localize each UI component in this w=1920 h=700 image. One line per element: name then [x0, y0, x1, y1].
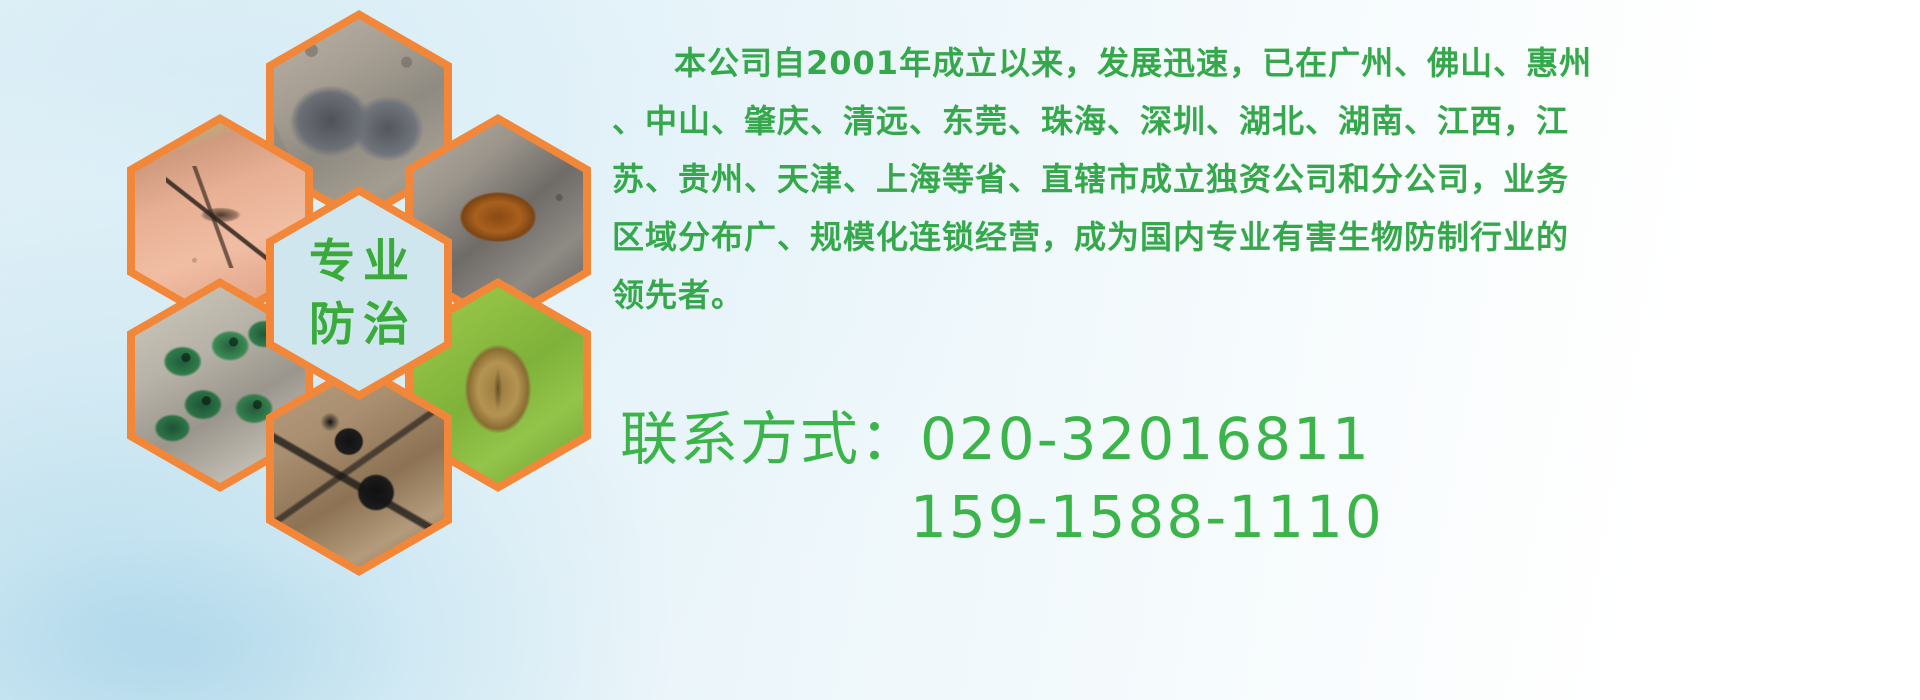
description-line-2: 、中山、肇庆、清远、东莞、珠海、深圳、湖北、湖南、江西，江 — [612, 92, 1902, 150]
badge-label-line1: 专业 — [301, 233, 417, 291]
hex-inner-badge: 专业 防治 — [274, 195, 444, 391]
hexagon-photo-cluster: 专业 防治 — [95, 10, 595, 570]
ant-photo — [274, 371, 444, 567]
company-description: 本公司自2001年成立以来，发展迅速，已在广州、佛山、惠州 、中山、肇庆、清远、… — [612, 34, 1902, 324]
badge-label: 专业 防治 — [274, 195, 444, 391]
description-line-1: 本公司自2001年成立以来，发展迅速，已在广州、佛山、惠州 — [612, 34, 1902, 92]
contact-phone-primary[interactable]: 联系方式：020-32016811 — [620, 400, 1860, 478]
description-line-5: 领先者。 — [612, 266, 1902, 324]
badge-label-line2: 防治 — [301, 296, 417, 354]
contact-info: 联系方式：020-32016811 159-1588-1110 — [620, 400, 1860, 556]
promo-banner: 专业 防治 本公司自2001年成立以来，发展迅速，已在广州、佛山、惠州 、中山、… — [0, 0, 1920, 700]
hex-inner-ant — [274, 371, 444, 567]
description-line-3: 苏、贵州、天津、上海等省、直辖市成立独资公司和分公司，业务 — [612, 150, 1902, 208]
contact-phone-secondary[interactable]: 159-1588-1110 — [620, 478, 1860, 556]
description-line-4: 区域分布广、规模化连锁经营，成为国内专业有害生物防制行业的 — [612, 208, 1902, 266]
